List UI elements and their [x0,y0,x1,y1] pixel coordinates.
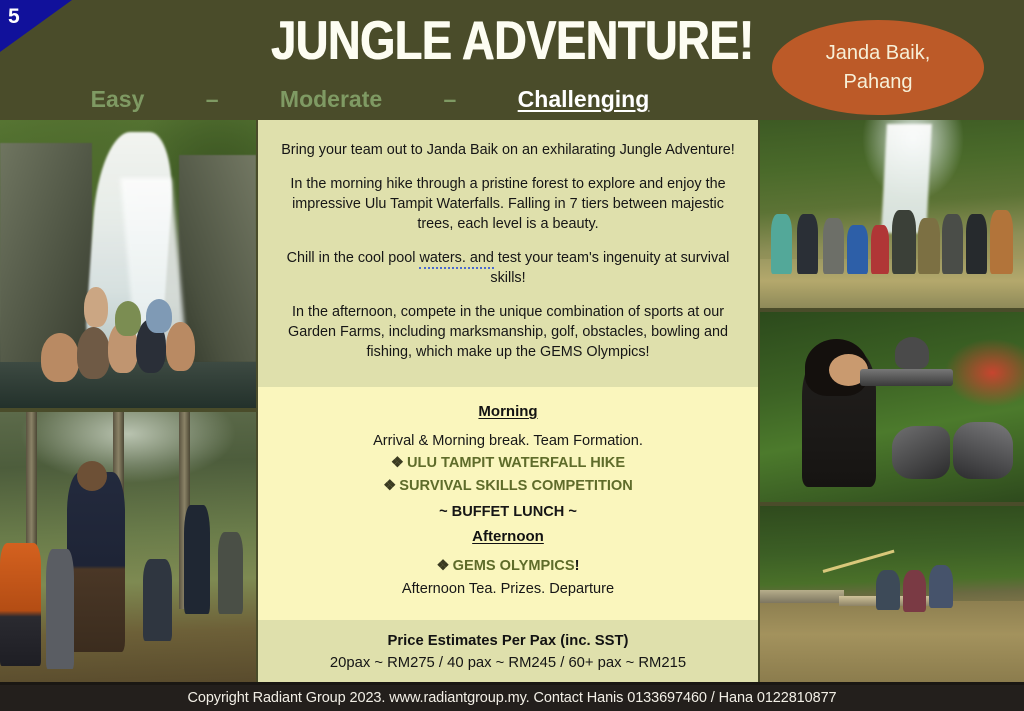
chill-text-post: test your team's ingenuity at survival s… [490,250,729,286]
location-line-2: Pahang [844,68,913,97]
footer-bar: Copyright Radiant Group 2023. www.radian… [0,685,1024,711]
difficulty-separator-1: – [206,86,219,113]
photo-paintball-marksmanship [760,312,1024,502]
price-title: Price Estimates Per Pax (inc. SST) [258,631,758,652]
photo-archery-survival [0,412,256,685]
location-badge: Janda Baik, Pahang [772,20,984,115]
itinerary-bullet-survival: ❖SURVIVAL SKILLS COMPETITION [278,475,738,498]
itinerary-morning-heading: Morning [278,403,738,420]
diamond-bullet-icon: ❖ [383,478,396,494]
diamond-bullet-icon: ❖ [437,558,450,574]
difficulty-challenging: Challenging [518,86,650,113]
intro-paragraph-1: Bring your team out to Janda Baik on an … [280,140,736,160]
itinerary-morning-lead: Arrival & Morning break. Team Formation. [278,430,738,452]
slide-canvas: 5 JUNGLE ADVENTURE! Easy – Moderate – Ch… [0,0,1024,711]
photo-waterfall-pool [0,120,256,408]
intro-paragraph-chill: Chill in the cool pool waters. and test … [280,248,736,288]
itinerary-bullet-gems-label: GEMS OLYMPICS [453,558,575,574]
difficulty-easy: Easy [91,86,145,113]
slide-number-label: 5 [8,5,20,29]
itinerary-lunch: ~ BUFFET LUNCH ~ [278,498,738,526]
photo-fishing-jetty [760,506,1024,685]
spellcheck-flagged-text: waters. and [419,250,493,269]
price-band: Price Estimates Per Pax (inc. SST) 20pax… [258,620,758,685]
chill-text-pre: Chill in the cool pool [287,250,420,266]
intro-paragraph-3: In the afternoon, compete in the unique … [280,302,736,362]
diamond-bullet-icon: ❖ [391,455,404,471]
itinerary-bullet-survival-label: SURVIVAL SKILLS COMPETITION [399,478,633,494]
intro-block: Bring your team out to Janda Baik on an … [258,120,758,387]
difficulty-moderate: Moderate [280,86,382,113]
itinerary-bullet-hike: ❖ULU TAMPIT WATERFALL HIKE [278,452,738,475]
price-line: 20pax ~ RM275 / 40 pax ~ RM245 / 60+ pax… [258,652,758,674]
difficulty-scale: Easy – Moderate – Challenging [0,86,740,113]
itinerary-block: Morning Arrival & Morning break. Team Fo… [258,387,758,620]
footer-copyright-text: Copyright Radiant Group 2023. www.radian… [188,690,837,706]
itinerary-afternoon-closing: Afternoon Tea. Prizes. Departure [278,578,738,600]
intro-paragraph-2: In the morning hike through a pristine f… [280,174,736,234]
itinerary-bullet-gems-suffix: ! [575,558,580,574]
itinerary-afternoon-heading: Afternoon [278,528,738,545]
itinerary-bullet-hike-label: ULU TAMPIT WATERFALL HIKE [407,455,625,471]
location-line-1: Janda Baik, [826,39,931,68]
slide-header: 5 JUNGLE ADVENTURE! Easy – Moderate – Ch… [0,0,1024,118]
photo-group-at-waterfall [760,120,1024,308]
itinerary-bullet-gems: ❖GEMS OLYMPICS! [278,555,738,578]
content-panel: Bring your team out to Janda Baik on an … [258,120,758,685]
difficulty-separator-2: – [444,86,457,113]
